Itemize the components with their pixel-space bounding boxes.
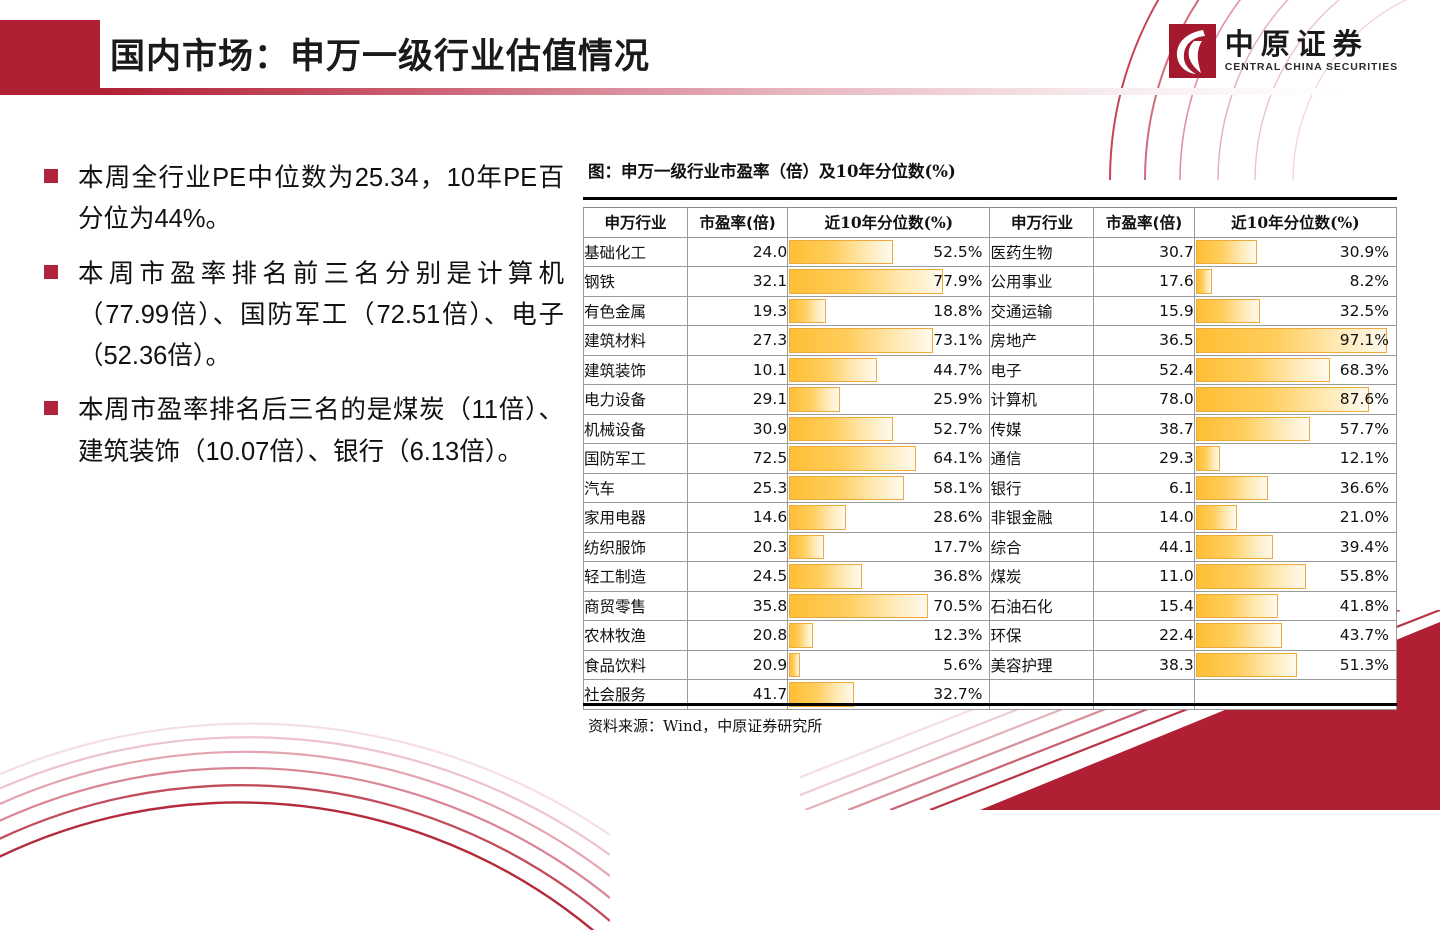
percentile-label: 55.8% xyxy=(1195,562,1396,591)
cell-industry-right: 综合 xyxy=(990,532,1094,562)
table-row: 建筑材料27.373.1%房地产36.597.1% xyxy=(584,326,1397,356)
cell-pe-right: 22.4 xyxy=(1094,621,1194,651)
cell-industry-right: 交通运输 xyxy=(990,296,1094,326)
bullet-list: 本周全行业PE中位数为25.34，10年PE百分位为44%。 本周市盈率排名前三… xyxy=(44,158,564,486)
cell-pe-left: 30.9 xyxy=(687,414,787,444)
cell-pe-right: 29.3 xyxy=(1094,444,1194,474)
percentile-label: 87.6% xyxy=(1195,385,1396,414)
cell-percentile-right: 51.3% xyxy=(1194,650,1396,680)
cell-percentile-left: 12.3% xyxy=(788,621,990,651)
table-row: 轻工制造24.536.8%煤炭11.055.8% xyxy=(584,562,1397,592)
cell-pe-right: 30.7 xyxy=(1094,237,1194,267)
figure-caption: 图：申万一级行业市盈率（倍）及10年分位数(%) xyxy=(588,158,956,182)
cell-percentile-right: 55.8% xyxy=(1194,562,1396,592)
cell-pe-left: 29.1 xyxy=(687,385,787,415)
percentile-label: 21.0% xyxy=(1195,503,1396,532)
table-row: 基础化工24.052.5%医药生物30.730.9% xyxy=(584,237,1397,267)
percentile-label: 68.3% xyxy=(1195,356,1396,385)
cell-pe-left: 20.3 xyxy=(687,532,787,562)
cell-pe-left: 25.3 xyxy=(687,473,787,503)
percentile-label: 43.7% xyxy=(1195,621,1396,650)
col-header-industry-right: 申万行业 xyxy=(990,208,1094,238)
bullet-square-icon xyxy=(44,169,58,183)
col-header-pe-left: 市盈率(倍) xyxy=(687,208,787,238)
cell-pe-right: 11.0 xyxy=(1094,562,1194,592)
cell-pe-left: 72.5 xyxy=(687,444,787,474)
figure-rule-bottom xyxy=(583,703,1397,706)
logo-text: 中原证券 CENTRAL CHINA SECURITIES xyxy=(1225,29,1398,73)
percentile-label: 41.8% xyxy=(1195,592,1396,621)
logo-text-cn: 中原证券 xyxy=(1225,29,1398,59)
percentile-label: 17.7% xyxy=(788,533,989,562)
cell-industry-right: 房地产 xyxy=(990,326,1094,356)
cell-industry-left: 有色金属 xyxy=(584,296,688,326)
percentile-label: 30.9% xyxy=(1195,238,1396,267)
cell-industry-left: 商贸零售 xyxy=(584,591,688,621)
percentile-label: 36.6% xyxy=(1195,474,1396,503)
logo-mark-icon xyxy=(1169,24,1216,78)
bullet-item: 本周市盈率排名前三名分别是计算机（77.99倍）、国防军工（72.51倍）、电子… xyxy=(44,254,564,378)
table-row: 农林牧渔20.812.3%环保22.443.7% xyxy=(584,621,1397,651)
figure-rule-top xyxy=(583,197,1397,200)
cell-pe-right: 38.7 xyxy=(1094,414,1194,444)
cell-percentile-left: 64.1% xyxy=(788,444,990,474)
percentile-label: 51.3% xyxy=(1195,651,1396,680)
cell-industry-right: 石油石化 xyxy=(990,591,1094,621)
percentile-label: 5.6% xyxy=(788,651,989,680)
cell-industry-left: 汽车 xyxy=(584,473,688,503)
cell-percentile-right: 32.5% xyxy=(1194,296,1396,326)
cell-percentile-right: 97.1% xyxy=(1194,326,1396,356)
col-header-percentile-left: 近10年分位数(%) xyxy=(788,208,990,238)
percentile-label: 12.3% xyxy=(788,621,989,650)
cell-percentile-left: 70.5% xyxy=(788,591,990,621)
company-logo: 中原证券 CENTRAL CHINA SECURITIES xyxy=(1169,22,1398,80)
cell-pe-right: 17.6 xyxy=(1094,267,1194,297)
cell-percentile-right: 43.7% xyxy=(1194,621,1396,651)
percentile-label: 8.2% xyxy=(1195,267,1396,296)
cell-pe-right: 15.4 xyxy=(1094,591,1194,621)
cell-industry-left: 建筑材料 xyxy=(584,326,688,356)
cell-pe-right: 6.1 xyxy=(1094,473,1194,503)
table-header-row: 申万行业 市盈率(倍) 近10年分位数(%) 申万行业 市盈率(倍) 近10年分… xyxy=(584,208,1397,238)
cell-pe-right: 38.3 xyxy=(1094,650,1194,680)
cell-industry-right: 医药生物 xyxy=(990,237,1094,267)
cell-percentile-left: 5.6% xyxy=(788,650,990,680)
bullet-text: 本周市盈率排名前三名分别是计算机（77.99倍）、国防军工（72.51倍）、电子… xyxy=(78,254,564,378)
cell-industry-right: 公用事业 xyxy=(990,267,1094,297)
cell-pe-left: 24.0 xyxy=(687,237,787,267)
cell-industry-left: 电力设备 xyxy=(584,385,688,415)
percentile-label: 64.1% xyxy=(788,444,989,473)
percentile-label: 39.4% xyxy=(1195,533,1396,562)
table-row: 商贸零售35.870.5%石油石化15.441.8% xyxy=(584,591,1397,621)
cell-pe-right: 15.9 xyxy=(1094,296,1194,326)
cell-pe-left: 32.1 xyxy=(687,267,787,297)
cell-percentile-right: 41.8% xyxy=(1194,591,1396,621)
cell-industry-left: 纺织服饰 xyxy=(584,532,688,562)
percentile-label: 12.1% xyxy=(1195,444,1396,473)
percentile-label: 58.1% xyxy=(788,474,989,503)
logo-text-en: CENTRAL CHINA SECURITIES xyxy=(1225,61,1398,73)
percentile-label: 18.8% xyxy=(788,297,989,326)
percentile-label: 44.7% xyxy=(788,356,989,385)
page-title: 国内市场：申万一级行业估值情况 xyxy=(110,28,650,79)
cell-industry-left: 家用电器 xyxy=(584,503,688,533)
decorative-arcs-bottomleft xyxy=(0,630,610,930)
cell-pe-left: 20.9 xyxy=(687,650,787,680)
table-body: 基础化工24.052.5%医药生物30.730.9%钢铁32.177.9%公用事… xyxy=(584,237,1397,709)
cell-industry-right: 煤炭 xyxy=(990,562,1094,592)
cell-pe-left: 20.8 xyxy=(687,621,787,651)
cell-percentile-left: 25.9% xyxy=(788,385,990,415)
cell-percentile-right: 30.9% xyxy=(1194,237,1396,267)
col-header-pe-right: 市盈率(倍) xyxy=(1094,208,1194,238)
cell-industry-left: 机械设备 xyxy=(584,414,688,444)
cell-percentile-right: 39.4% xyxy=(1194,532,1396,562)
cell-percentile-right: 8.2% xyxy=(1194,267,1396,297)
percentile-label: 77.9% xyxy=(788,267,989,296)
cell-percentile-left: 58.1% xyxy=(788,473,990,503)
cell-percentile-right: 21.0% xyxy=(1194,503,1396,533)
cell-pe-right: 78.0 xyxy=(1094,385,1194,415)
cell-percentile-left: 77.9% xyxy=(788,267,990,297)
table-row: 国防军工72.564.1%通信29.312.1% xyxy=(584,444,1397,474)
cell-industry-right: 非银金融 xyxy=(990,503,1094,533)
percentile-label: 25.9% xyxy=(788,385,989,414)
cell-industry-left: 钢铁 xyxy=(584,267,688,297)
bullet-square-icon xyxy=(44,401,58,415)
cell-industry-left: 食品饮料 xyxy=(584,650,688,680)
bullet-square-icon xyxy=(44,265,58,279)
col-header-percentile-right: 近10年分位数(%) xyxy=(1194,208,1396,238)
cell-pe-left: 14.6 xyxy=(687,503,787,533)
table-row: 电力设备29.125.9%计算机78.087.6% xyxy=(584,385,1397,415)
percentile-label: 73.1% xyxy=(788,326,989,355)
cell-percentile-right: 57.7% xyxy=(1194,414,1396,444)
cell-pe-right: 52.4 xyxy=(1094,355,1194,385)
cell-percentile-left: 52.5% xyxy=(788,237,990,267)
table-row: 食品饮料20.95.6%美容护理38.351.3% xyxy=(584,650,1397,680)
cell-pe-left: 24.5 xyxy=(687,562,787,592)
percentile-label: 52.7% xyxy=(788,415,989,444)
cell-pe-left: 10.1 xyxy=(687,355,787,385)
slide-header: 国内市场：申万一级行业估值情况 中原证券 CENTRAL CHINA SECUR… xyxy=(0,0,1440,100)
cell-industry-left: 国防军工 xyxy=(584,444,688,474)
cell-industry-left: 基础化工 xyxy=(584,237,688,267)
cell-industry-right: 环保 xyxy=(990,621,1094,651)
cell-percentile-right: 12.1% xyxy=(1194,444,1396,474)
title-underline xyxy=(100,88,1340,95)
cell-percentile-left: 44.7% xyxy=(788,355,990,385)
table-row: 纺织服饰20.317.7%综合44.139.4% xyxy=(584,532,1397,562)
percentile-label: 57.7% xyxy=(1195,415,1396,444)
cell-industry-left: 建筑装饰 xyxy=(584,355,688,385)
percentile-label: 36.8% xyxy=(788,562,989,591)
percentile-label: 52.5% xyxy=(788,238,989,267)
cell-industry-right: 通信 xyxy=(990,444,1094,474)
cell-pe-left: 19.3 xyxy=(687,296,787,326)
cell-percentile-right: 68.3% xyxy=(1194,355,1396,385)
percentile-label: 97.1% xyxy=(1195,326,1396,355)
cell-industry-right: 电子 xyxy=(990,355,1094,385)
title-accent-block xyxy=(0,20,100,95)
table-row: 建筑装饰10.144.7%电子52.468.3% xyxy=(584,355,1397,385)
table-row: 有色金属19.318.8%交通运输15.932.5% xyxy=(584,296,1397,326)
cell-industry-right: 计算机 xyxy=(990,385,1094,415)
cell-percentile-right: 87.6% xyxy=(1194,385,1396,415)
bullet-text: 本周全行业PE中位数为25.34，10年PE百分位为44%。 xyxy=(78,158,564,241)
percentile-label: 70.5% xyxy=(788,592,989,621)
cell-industry-right: 银行 xyxy=(990,473,1094,503)
col-header-industry-left: 申万行业 xyxy=(584,208,688,238)
cell-percentile-left: 36.8% xyxy=(788,562,990,592)
cell-industry-left: 农林牧渔 xyxy=(584,621,688,651)
source-note: 资料来源：Wind，中原证券研究所 xyxy=(588,715,822,736)
table-row: 汽车25.358.1%银行6.136.6% xyxy=(584,473,1397,503)
percentile-label: 28.6% xyxy=(788,503,989,532)
cell-pe-right: 44.1 xyxy=(1094,532,1194,562)
bullet-item: 本周全行业PE中位数为25.34，10年PE百分位为44%。 xyxy=(44,158,564,241)
cell-industry-left: 轻工制造 xyxy=(584,562,688,592)
cell-percentile-left: 17.7% xyxy=(788,532,990,562)
cell-percentile-left: 28.6% xyxy=(788,503,990,533)
cell-percentile-left: 73.1% xyxy=(788,326,990,356)
cell-pe-right: 14.0 xyxy=(1094,503,1194,533)
bullet-text: 本周市盈率排名后三名的是煤炭（11倍）、建筑装饰（10.07倍）、银行（6.13… xyxy=(78,390,564,473)
table-row: 机械设备30.952.7%传媒38.757.7% xyxy=(584,414,1397,444)
cell-percentile-left: 18.8% xyxy=(788,296,990,326)
table-row: 家用电器14.628.6%非银金融14.021.0% xyxy=(584,503,1397,533)
cell-industry-right: 传媒 xyxy=(990,414,1094,444)
cell-percentile-right: 36.6% xyxy=(1194,473,1396,503)
brush-stroke-icon xyxy=(1169,24,1216,78)
bullet-item: 本周市盈率排名后三名的是煤炭（11倍）、建筑装饰（10.07倍）、银行（6.13… xyxy=(44,390,564,473)
percentile-label: 32.5% xyxy=(1195,297,1396,326)
cell-pe-right: 36.5 xyxy=(1094,326,1194,356)
cell-pe-left: 35.8 xyxy=(687,591,787,621)
cell-pe-left: 27.3 xyxy=(687,326,787,356)
valuation-table: 申万行业 市盈率(倍) 近10年分位数(%) 申万行业 市盈率(倍) 近10年分… xyxy=(583,207,1397,710)
cell-percentile-left: 52.7% xyxy=(788,414,990,444)
cell-industry-right: 美容护理 xyxy=(990,650,1094,680)
table-row: 钢铁32.177.9%公用事业17.68.2% xyxy=(584,267,1397,297)
